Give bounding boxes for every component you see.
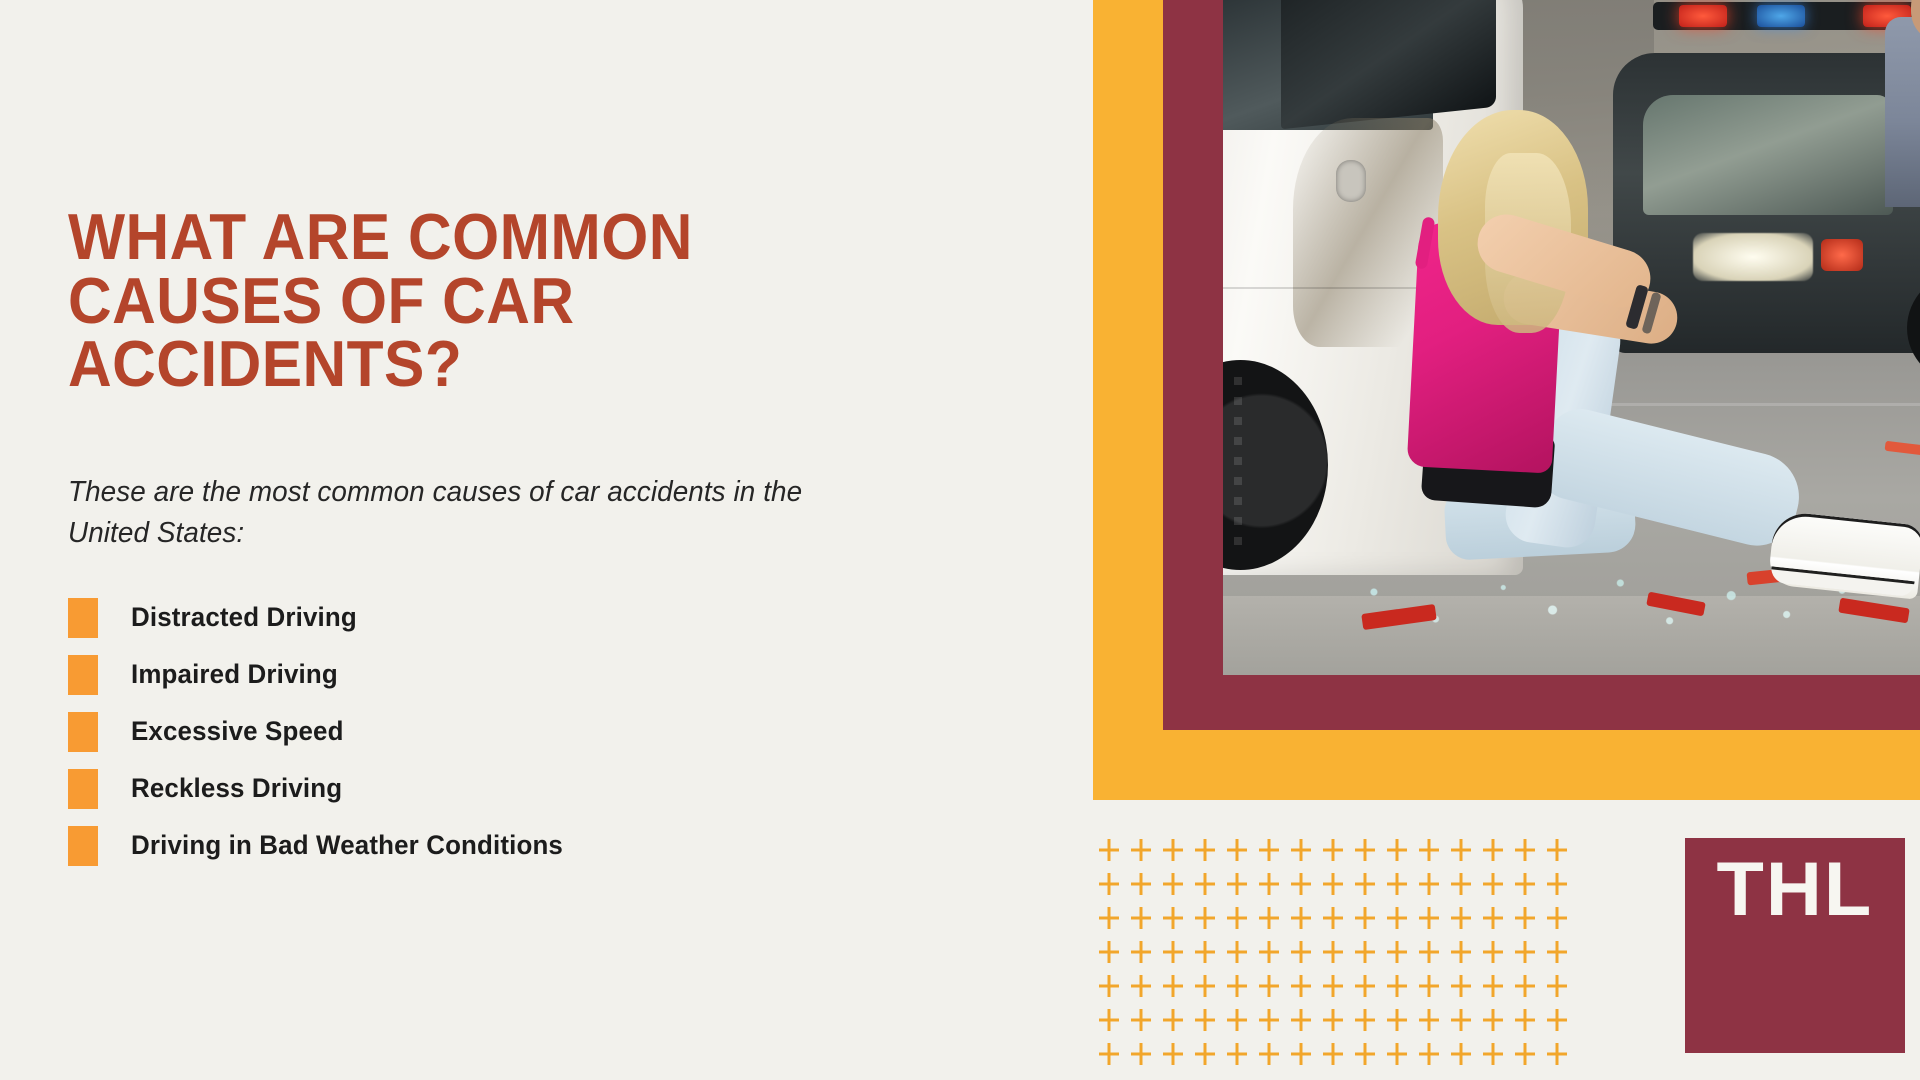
plus-icon (1221, 901, 1253, 935)
plus-icon (1189, 901, 1221, 935)
photo-scene (1223, 0, 1920, 675)
plus-icon (1189, 833, 1221, 867)
square-bullet-icon (68, 712, 98, 752)
plus-icon (1285, 1003, 1317, 1037)
plus-icon (1477, 867, 1509, 901)
plus-icon (1125, 969, 1157, 1003)
plus-icon (1253, 901, 1285, 935)
plus-icon (1253, 867, 1285, 901)
plus-icon (1093, 935, 1125, 969)
square-bullet-icon (68, 598, 98, 638)
plus-icon (1509, 833, 1541, 867)
plus-icon (1093, 867, 1125, 901)
plus-icon (1285, 833, 1317, 867)
plus-pattern-decoration (1093, 833, 1573, 1071)
subtitle-text: These are the most common causes of car … (68, 472, 826, 554)
list-item-label: Reckless Driving (131, 773, 896, 804)
infographic-slide: WHAT ARE COMMON CAUSES OF CAR ACCIDENTS?… (0, 0, 1920, 1080)
plus-icon (1349, 833, 1381, 867)
plus-icon (1285, 969, 1317, 1003)
police-taillamp (1821, 239, 1863, 271)
plus-icon (1349, 1037, 1381, 1071)
light-blue-icon (1757, 5, 1805, 27)
plus-icon (1445, 1003, 1477, 1037)
plus-icon (1413, 901, 1445, 935)
plus-icon (1093, 1037, 1125, 1071)
plus-icon (1477, 901, 1509, 935)
thl-logo[interactable]: THL (1685, 838, 1905, 1053)
plus-icon (1413, 1037, 1445, 1071)
plus-icon (1125, 833, 1157, 867)
plus-icon (1189, 867, 1221, 901)
plus-icon (1509, 867, 1541, 901)
plus-icon (1317, 901, 1349, 935)
causes-list: Distracted Driving Impaired Driving Exce… (68, 589, 928, 874)
plus-icon (1285, 935, 1317, 969)
plus-icon (1317, 1003, 1349, 1037)
plus-icon (1349, 1003, 1381, 1037)
list-item: Distracted Driving (68, 589, 928, 646)
plus-icon (1125, 867, 1157, 901)
plus-icon (1445, 935, 1477, 969)
list-item: Driving in Bad Weather Conditions (68, 817, 928, 874)
plus-icon (1477, 833, 1509, 867)
plus-icon (1541, 969, 1573, 1003)
plus-icon (1541, 935, 1573, 969)
plus-icon (1285, 901, 1317, 935)
plus-icon (1189, 935, 1221, 969)
list-item: Reckless Driving (68, 760, 928, 817)
plus-icon (1413, 867, 1445, 901)
plus-icon (1285, 1037, 1317, 1071)
plus-icon (1413, 833, 1445, 867)
plus-icon (1349, 867, 1381, 901)
plus-icon (1413, 1003, 1445, 1037)
plus-icon (1349, 935, 1381, 969)
police-headlamp (1693, 233, 1813, 281)
plus-icon (1317, 935, 1349, 969)
plus-icon (1509, 935, 1541, 969)
plus-icon (1381, 867, 1413, 901)
police-windshield (1643, 95, 1893, 215)
content-column: WHAT ARE COMMON CAUSES OF CAR ACCIDENTS?… (68, 0, 968, 1080)
square-bullet-icon (68, 655, 98, 695)
plus-icon (1253, 1037, 1285, 1071)
plus-icon (1477, 1037, 1509, 1071)
plus-icon (1093, 833, 1125, 867)
woman-white-sneaker (1768, 510, 1920, 599)
plus-icon (1157, 969, 1189, 1003)
plus-icon (1157, 1003, 1189, 1037)
plus-icon (1253, 833, 1285, 867)
plus-icon (1093, 969, 1125, 1003)
plus-icon (1157, 867, 1189, 901)
plus-icon (1317, 833, 1349, 867)
plus-icon (1221, 969, 1253, 1003)
plus-icon (1445, 969, 1477, 1003)
plus-icon (1477, 969, 1509, 1003)
plus-icon (1317, 867, 1349, 901)
plus-icon (1157, 935, 1189, 969)
plus-icon (1189, 1003, 1221, 1037)
plus-icon (1125, 1003, 1157, 1037)
plus-icon (1413, 969, 1445, 1003)
plus-icon (1317, 1037, 1349, 1071)
plus-icon (1253, 1003, 1285, 1037)
open-car-door (1281, 0, 1496, 130)
plus-icon (1221, 867, 1253, 901)
plus-icon (1381, 833, 1413, 867)
plus-icon (1221, 1003, 1253, 1037)
thl-logo-text: THL (1717, 852, 1874, 928)
plus-icon (1541, 901, 1573, 935)
plus-icon (1509, 1003, 1541, 1037)
list-item: Impaired Driving (68, 646, 928, 703)
plus-icon (1413, 935, 1445, 969)
plus-icon (1285, 867, 1317, 901)
plus-icon (1157, 901, 1189, 935)
plus-icon (1541, 1003, 1573, 1037)
plus-icon (1093, 1003, 1125, 1037)
plus-icon (1125, 1037, 1157, 1071)
plus-icon (1189, 1037, 1221, 1071)
plus-icon (1445, 833, 1477, 867)
list-item-label: Driving in Bad Weather Conditions (131, 830, 896, 861)
plus-icon (1381, 935, 1413, 969)
plus-icon (1189, 969, 1221, 1003)
list-item-label: Distracted Driving (131, 602, 896, 633)
plus-icon (1445, 901, 1477, 935)
car-door-handle (1336, 160, 1366, 202)
plus-icon (1157, 1037, 1189, 1071)
plus-icon (1221, 833, 1253, 867)
plus-icon (1445, 867, 1477, 901)
square-bullet-icon (68, 769, 98, 809)
plus-icon (1509, 969, 1541, 1003)
plus-icon (1445, 1037, 1477, 1071)
plus-icon (1221, 1037, 1253, 1071)
list-item-label: Impaired Driving (131, 659, 896, 690)
light-red-left-icon (1679, 5, 1727, 27)
plus-icon (1253, 969, 1285, 1003)
plus-icon (1093, 901, 1125, 935)
plus-icon (1509, 1037, 1541, 1071)
page-title: WHAT ARE COMMON CAUSES OF CAR ACCIDENTS? (68, 205, 886, 396)
list-item-label: Excessive Speed (131, 716, 896, 747)
plus-icon (1125, 901, 1157, 935)
plus-icon (1317, 969, 1349, 1003)
plus-icon (1381, 1037, 1413, 1071)
accident-photo (1223, 0, 1920, 675)
plus-icon (1509, 901, 1541, 935)
plus-icon (1253, 935, 1285, 969)
plus-icon (1541, 1037, 1573, 1071)
plus-icon (1541, 867, 1573, 901)
plus-icon (1381, 1003, 1413, 1037)
plus-icon (1349, 969, 1381, 1003)
plus-icon (1381, 969, 1413, 1003)
plus-icon (1157, 833, 1189, 867)
police-officer-body (1885, 17, 1920, 207)
plus-icon (1125, 935, 1157, 969)
plus-icon (1349, 901, 1381, 935)
list-item: Excessive Speed (68, 703, 928, 760)
square-bullet-icon (68, 826, 98, 866)
plus-icon (1381, 901, 1413, 935)
plus-icon (1477, 1003, 1509, 1037)
police-lightbar (1653, 2, 1920, 30)
plus-icon (1221, 935, 1253, 969)
plus-icon (1477, 935, 1509, 969)
plus-icon (1541, 833, 1573, 867)
